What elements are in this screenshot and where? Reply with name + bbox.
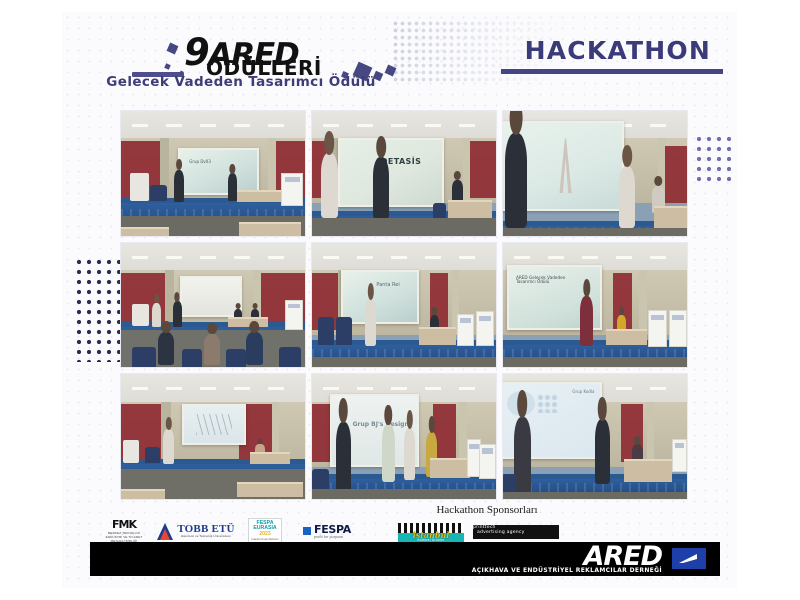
decor-square-icon [164,63,171,70]
photo-8-screen-text: Grup BJ's Design [353,422,409,429]
footer-bar: ARED AÇIKHAVA VE ENDÜSTRİYEL REKLAMCILAR… [90,542,720,576]
sponsors-row-primary: FMK MERKEZ TEKNOLOJİ ENDÜSTRİ VE TİCARET… [104,518,359,544]
poster-canvas: 9ARED ÖDÜLLERİ Gelecek Vadeden Tasarımcı… [62,12,737,588]
photo-9[interactable]: Grup Kodla [502,373,688,500]
fespa-title: FESPA [314,524,351,535]
footer-brand: ARED [583,543,662,570]
sponsors-row-hackathon: istanbul Kültürel Ürünler printtech adve… [398,520,559,543]
fespa-square-icon [303,527,311,535]
page-title: HACKATHON [525,36,711,65]
istanbul-logo: istanbul Kültürel Ürünler [398,520,464,543]
photo-7[interactable] [120,373,306,500]
decor-square-icon [385,65,397,77]
photo-5[interactable]: Panta Rei [311,242,497,369]
fespa-eurasia-caption: İstanbul Fuar Merkezi [252,538,279,541]
photo-3[interactable] [502,110,688,237]
photo-grid: Grup Dv03 DETASİS [120,110,688,500]
fespa-eurasia-logo: FESPA EURASIA 2023 İstanbul Fuar Merkezi [248,518,282,544]
photo-2[interactable]: DETASİS [311,110,497,237]
photo-9-screen-text: Grup Kodla [572,390,594,395]
poster-header: 9ARED ÖDÜLLERİ Gelecek Vadeden Tasarımcı… [62,12,737,107]
photo-4[interactable] [120,242,306,369]
fespa-caption: profit for purpose [314,535,351,539]
decor-square-icon [167,43,179,55]
decor-dot-grid-right [694,134,737,186]
decor-dot-grid-left [74,257,124,362]
photo-1-screen-text: Grup Dv03 [189,160,211,165]
tobb-caption: Ekonomi ve Teknoloji Üniversitesi [177,535,234,539]
photo-5-screen-text: Panta Rei [376,283,399,289]
photo-8[interactable]: Grup BJ's Design [311,373,497,500]
tobb-triangle-icon [157,523,173,540]
printtech-caption: advertising agency [477,530,559,535]
printtech-logo: printtech advertising agency [473,525,559,539]
photo-6[interactable]: ARED Gelecek Vadeden Tasarımcı Ödülü [502,242,688,369]
sponsors-title: Hackathon Sponsorları [392,504,582,516]
footer-tagline: AÇIKHAVA VE ENDÜSTRİYEL REKLAMCILAR DERN… [472,567,662,574]
poster-tagline: Gelecek Vadeden Tasarımcı Ödülü [106,74,376,90]
logo-number: 9 [184,31,209,74]
tobb-etu-logo: TOBB ETÜ Ekonomi ve Teknoloji Üniversite… [157,518,235,544]
tobb-title: TOBB ETÜ [177,524,234,535]
photo-1[interactable]: Grup Dv03 [120,110,306,237]
ared-mark-icon [672,548,706,569]
title-underline-bar [501,69,723,74]
fmk-mark: FMK [112,518,136,531]
fmk-logo: FMK MERKEZ TEKNOLOJİ ENDÜSTRİ VE TİCARET… [104,518,144,544]
photo-6-screen-text: ARED Gelecek Vadeden Tasarımcı Ödülü [516,276,582,286]
fespa-logo: FESPA profit for purpose [295,518,359,544]
